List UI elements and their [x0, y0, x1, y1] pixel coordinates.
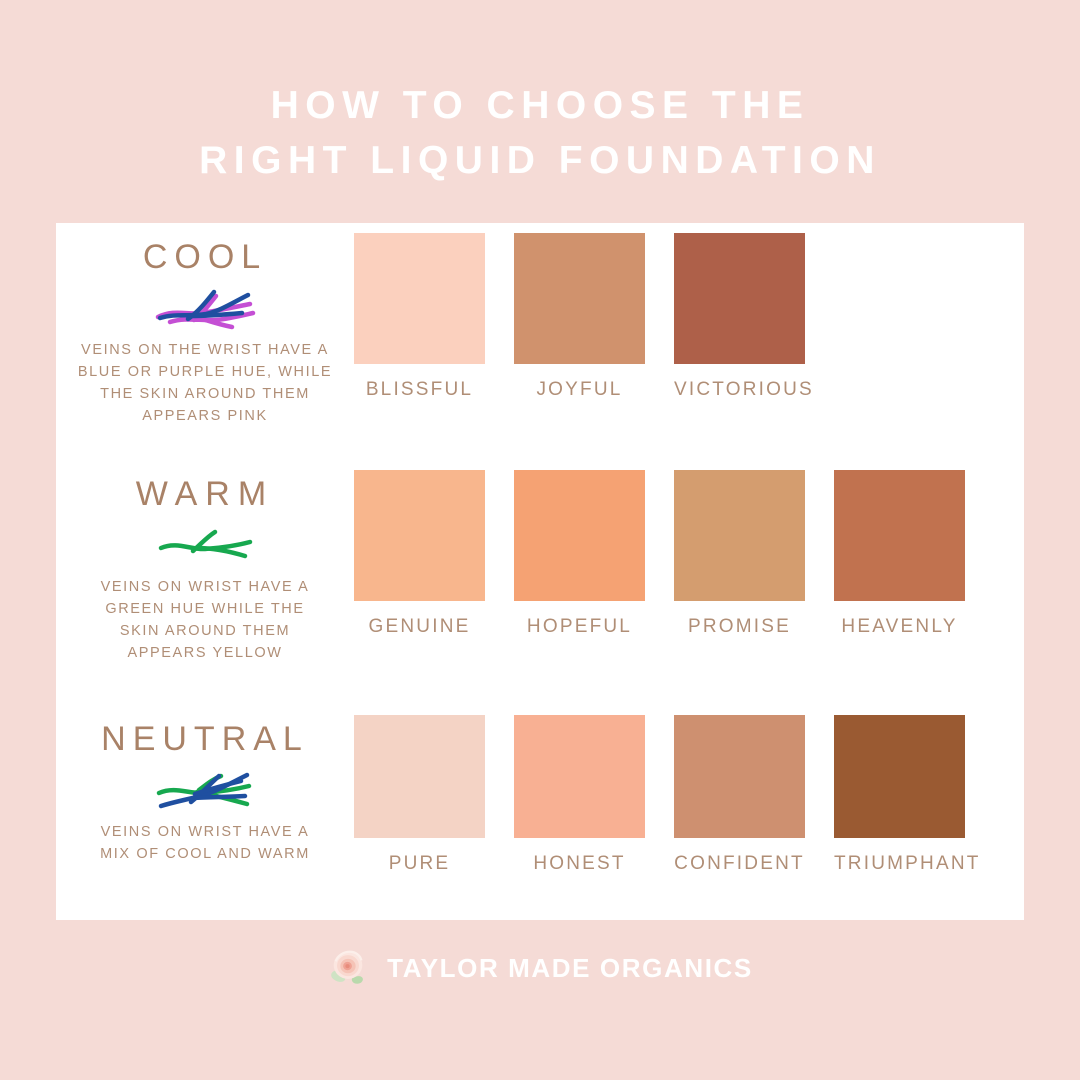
swatch-item[interactable]: TRIUMPHANT: [834, 715, 965, 875]
swatch-chip[interactable]: [674, 470, 805, 601]
page-title-line-1: HOW TO CHOOSE THE: [0, 78, 1080, 133]
swatch-chip[interactable]: [834, 715, 965, 838]
swatch-chip[interactable]: [514, 470, 645, 601]
undertone-title-neutral: NEUTRAL: [56, 719, 354, 759]
swatch-item[interactable]: PURE: [354, 715, 485, 875]
swatch-label: TRIUMPHANT: [834, 853, 965, 875]
swatch-chip[interactable]: [514, 715, 645, 838]
undertone-title-cool: COOL: [56, 237, 354, 277]
swatch-label: JOYFUL: [514, 379, 645, 401]
undertone-description-cool: COOL VEINS ON THE WRI: [56, 233, 354, 427]
page-title-line-2: RIGHT LIQUID FOUNDATION: [0, 133, 1080, 188]
swatch-label: VICTORIOUS: [674, 379, 805, 401]
swatch-label: PROMISE: [674, 616, 805, 638]
undertone-title-warm: WARM: [56, 474, 354, 514]
undertone-description-neutral: NEUTRAL VEINS ON WRIS: [56, 715, 354, 865]
swatch-chip[interactable]: [514, 233, 645, 364]
undertone-row-warm: WARM VEINS ON WRIST HAVE A GREEN HUE WHI…: [56, 470, 1024, 664]
swatch-label: BLISSFUL: [354, 379, 485, 401]
swatch-item[interactable]: PROMISE: [674, 470, 805, 638]
swatch-list-neutral: PURE HONEST CONFIDENT TRIUMPHANT: [354, 715, 1024, 875]
undertone-row-neutral: NEUTRAL VEINS ON WRIS: [56, 715, 1024, 875]
rose-icon: [327, 946, 369, 990]
swatch-item[interactable]: BLISSFUL: [354, 233, 485, 401]
veins-green-icon: [56, 520, 354, 572]
swatch-item[interactable]: HEAVENLY: [834, 470, 965, 638]
swatch-chip[interactable]: [674, 715, 805, 838]
undertone-body-cool: VEINS ON THE WRIST HAVE A BLUE OR PURPLE…: [56, 339, 354, 427]
veins-blue-purple-icon: [56, 283, 354, 335]
footer-brand: TAYLOR MADE ORGANICS: [0, 946, 1080, 990]
swatch-chip[interactable]: [354, 715, 485, 838]
content-card: COOL VEINS ON THE WRI: [56, 223, 1024, 920]
swatch-label: GENUINE: [354, 616, 485, 638]
brand-name: TAYLOR MADE ORGANICS: [387, 953, 753, 984]
swatch-item[interactable]: JOYFUL: [514, 233, 645, 401]
swatch-item[interactable]: VICTORIOUS: [674, 233, 805, 401]
page-title: HOW TO CHOOSE THE RIGHT LIQUID FOUNDATIO…: [0, 78, 1080, 188]
veins-blue-green-icon: [56, 765, 354, 817]
swatch-item[interactable]: CONFIDENT: [674, 715, 805, 875]
swatch-label: CONFIDENT: [674, 853, 805, 875]
swatch-label: PURE: [354, 853, 485, 875]
undertone-body-neutral: VEINS ON WRIST HAVE A MIX OF COOL AND WA…: [56, 821, 354, 865]
swatch-label: HONEST: [514, 853, 645, 875]
swatch-label: HOPEFUL: [514, 616, 645, 638]
swatch-item[interactable]: GENUINE: [354, 470, 485, 638]
swatch-list-warm: GENUINE HOPEFUL PROMISE HEAVENLY: [354, 470, 1024, 638]
swatch-item[interactable]: HONEST: [514, 715, 645, 875]
swatch-chip[interactable]: [674, 233, 805, 364]
swatch-label: HEAVENLY: [834, 616, 965, 638]
undertone-row-cool: COOL VEINS ON THE WRI: [56, 233, 1024, 427]
swatch-chip[interactable]: [354, 470, 485, 601]
swatch-chip[interactable]: [354, 233, 485, 364]
swatch-chip[interactable]: [834, 470, 965, 601]
undertone-description-warm: WARM VEINS ON WRIST HAVE A GREEN HUE WHI…: [56, 470, 354, 664]
undertone-body-warm: VEINS ON WRIST HAVE A GREEN HUE WHILE TH…: [56, 576, 354, 664]
swatch-list-cool: BLISSFUL JOYFUL VICTORIOUS: [354, 233, 1024, 401]
swatch-item[interactable]: HOPEFUL: [514, 470, 645, 638]
